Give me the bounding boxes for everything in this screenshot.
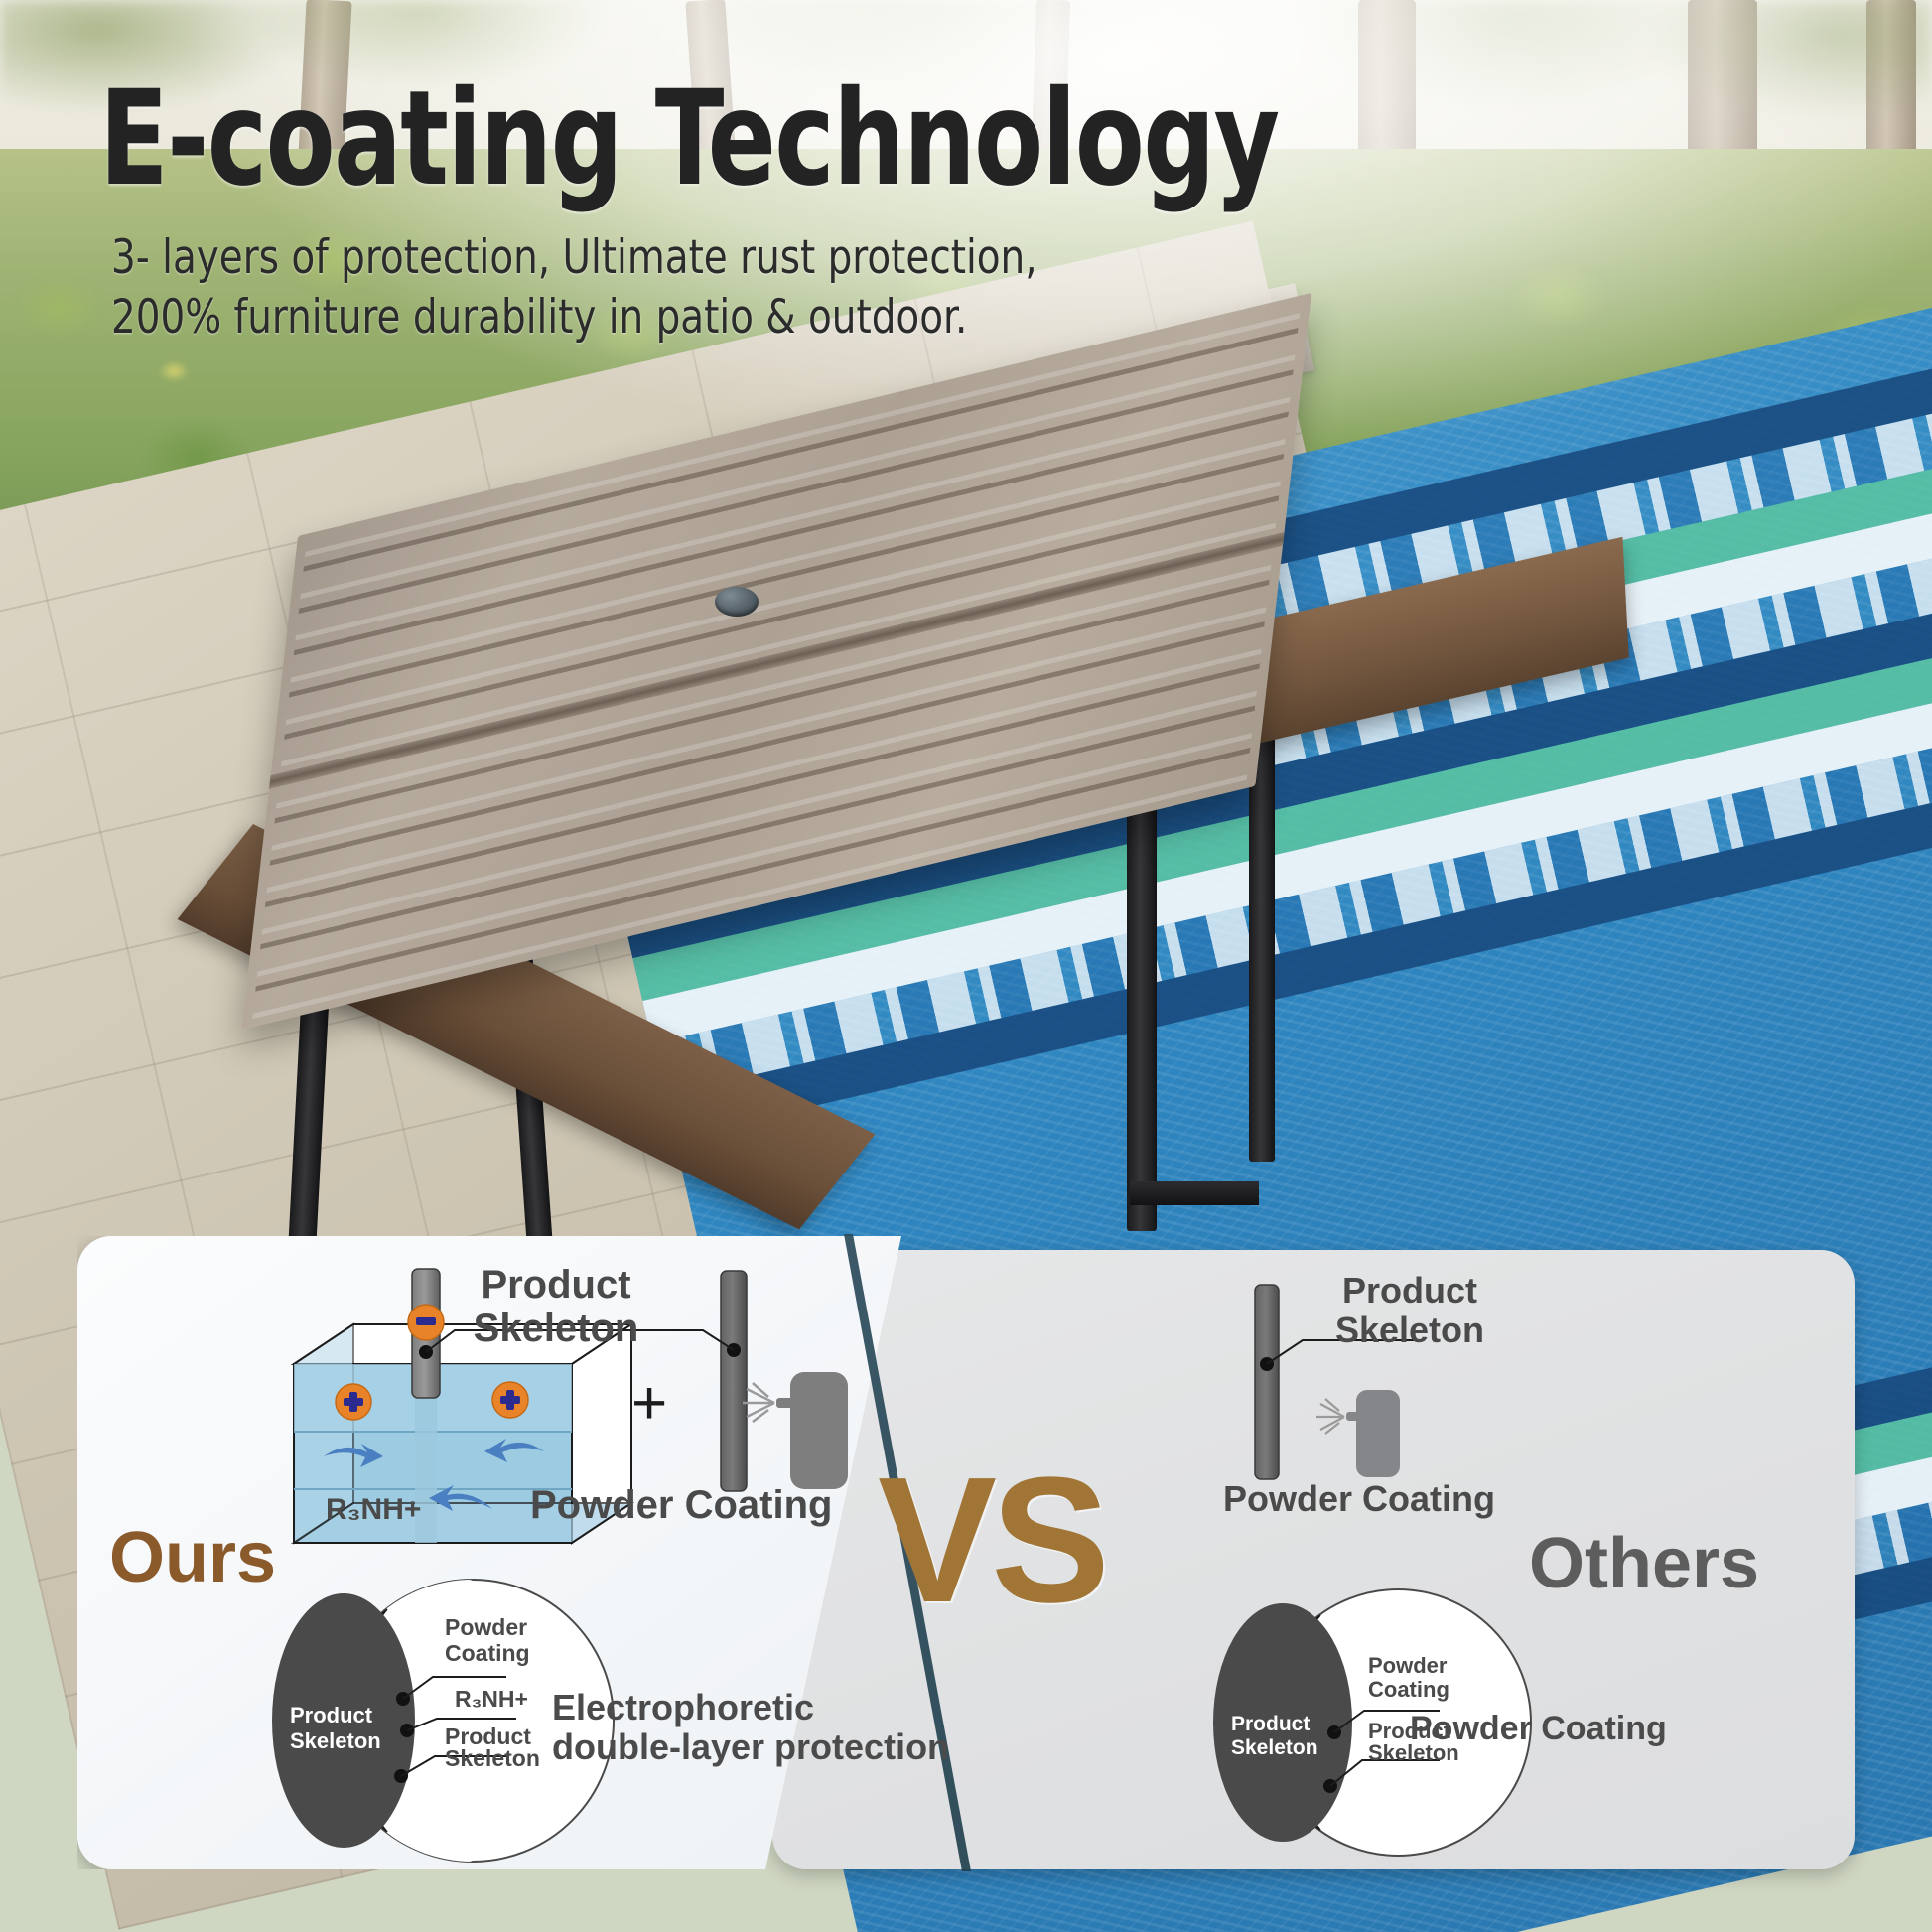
plus-symbol: + [631, 1369, 667, 1438]
others-product-skeleton-label: Product Skeleton [1315, 1271, 1504, 1349]
vs-label: VS [878, 1438, 1104, 1643]
others-brand-label: Others [1529, 1523, 1759, 1604]
others-caption: Powder Coating [1410, 1710, 1667, 1747]
ours-layer2: R₃NH+ [455, 1686, 528, 1712]
others-core-label-2: Skeleton [1231, 1736, 1318, 1759]
subtitle-line-1: 3- layers of protection, Ultimate rust p… [111, 228, 1037, 288]
ours-layer3-line2: Skeleton [445, 1745, 540, 1771]
ours-caption: Electrophoretic double-layer protection [552, 1688, 949, 1768]
ours-core-label-2: Skeleton [290, 1728, 381, 1753]
others-core-label-1: Product [1231, 1713, 1310, 1735]
ours-product-skeleton-label: Product Skeleton [447, 1263, 665, 1350]
infographic-root: E-coating Technology 3- layers of protec… [0, 0, 1932, 1932]
page-title: E-coating Technology [99, 73, 1278, 205]
others-layer1-line2: Coating [1368, 1677, 1449, 1702]
ours-powder-coating-label: Powder Coating [530, 1483, 832, 1527]
page-subtitle: 3- layers of protection, Ultimate rust p… [111, 228, 1037, 347]
ours-brand-label: Ours [109, 1517, 276, 1598]
ours-core-label-1: Product [290, 1703, 373, 1727]
ours-layer1-line1: Powder [445, 1614, 527, 1640]
umbrella-hole [715, 587, 759, 617]
ours-layer1-line2: Coating [445, 1640, 530, 1666]
subtitle-line-2: 200% furniture durability in patio & out… [111, 288, 1037, 347]
table-rail [1130, 1181, 1259, 1205]
bath-chemical-label: R₃NH+ [326, 1493, 421, 1526]
others-layer1-line1: Powder [1368, 1653, 1448, 1678]
others-powder-coating-label: Powder Coating [1223, 1479, 1495, 1519]
